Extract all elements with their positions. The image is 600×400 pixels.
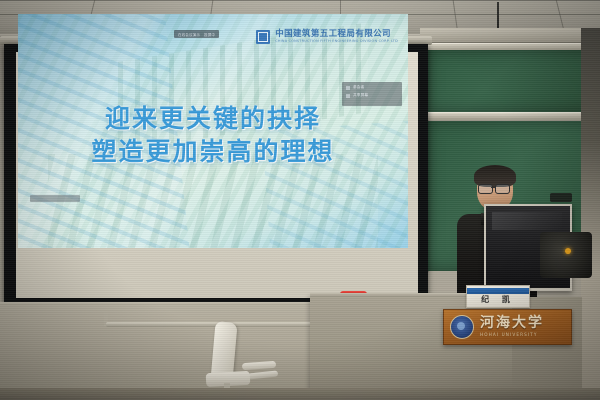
- slide-bottom-overlay-bar: [30, 195, 80, 202]
- overlay-tag-left-label: 在线会议演示: [178, 32, 200, 37]
- university-plaque: 河海大学 HOHAI UNIVERSITY: [443, 309, 572, 345]
- equipment-led-indicator: [565, 248, 571, 254]
- university-emblem-icon: [450, 315, 474, 339]
- university-name-cn: 河海大学: [480, 316, 544, 330]
- slide-headline-line-2: 塑造更加崇高的理想: [18, 135, 408, 168]
- right-wall-strip: [581, 28, 600, 400]
- chalkboard-clip: [550, 193, 572, 202]
- overlay-panel-square-icon: [346, 86, 350, 90]
- presenter-name-card: 纪 凯: [466, 285, 530, 308]
- company-name-cn: 中国建筑第五工程局有限公司: [275, 30, 398, 39]
- university-name-en: HOHAI UNIVERSITY: [480, 333, 544, 337]
- slide-overlay-tag: 在线会议演示 投屏中: [174, 30, 219, 38]
- presenter-name: 纪 凯: [481, 294, 515, 307]
- projected-slide: 中国建筑第五工程局有限公司 CHINA CONSTRUCTION FIFTH E…: [18, 14, 408, 248]
- overlay-panel-square-icon-2: [346, 94, 350, 98]
- overlay-tag-right-label: 投屏中: [204, 32, 215, 37]
- av-equipment: [540, 232, 592, 278]
- overlay-panel-label-2: 共享屏幕: [353, 93, 368, 98]
- overlay-panel-row-2: 共享屏幕: [346, 93, 398, 98]
- glasses-icon: [478, 184, 493, 194]
- company-name-en: CHINA CONSTRUCTION FIFTH ENGINEERING DIV…: [275, 40, 398, 43]
- company-logo-mark-icon: [256, 30, 270, 44]
- overlay-panel-label-1: 参会者: [353, 85, 364, 90]
- overlay-panel-row-1: 参会者: [346, 85, 398, 90]
- slide-headline-line-1: 迎来更关键的抉择: [18, 102, 408, 135]
- classroom-photo-scene: 中国建筑第五工程局有限公司 CHINA CONSTRUCTION FIFTH E…: [0, 0, 600, 400]
- glasses-bridge: [491, 187, 495, 188]
- glasses-right-lens: [495, 184, 510, 194]
- monitor-screen-glare: [492, 212, 562, 230]
- chalkboard-top-frame: [420, 28, 600, 43]
- chalkboard-rail-lower: [426, 112, 600, 120]
- chalkboard-panel-upper: [428, 50, 600, 112]
- desk-rail: [106, 322, 311, 327]
- floor-strip: [0, 388, 600, 400]
- slide-company-logo: 中国建筑第五工程局有限公司 CHINA CONSTRUCTION FIFTH E…: [256, 30, 398, 44]
- slide-headline: 迎来更关键的抉择 塑造更加崇高的理想: [18, 102, 408, 168]
